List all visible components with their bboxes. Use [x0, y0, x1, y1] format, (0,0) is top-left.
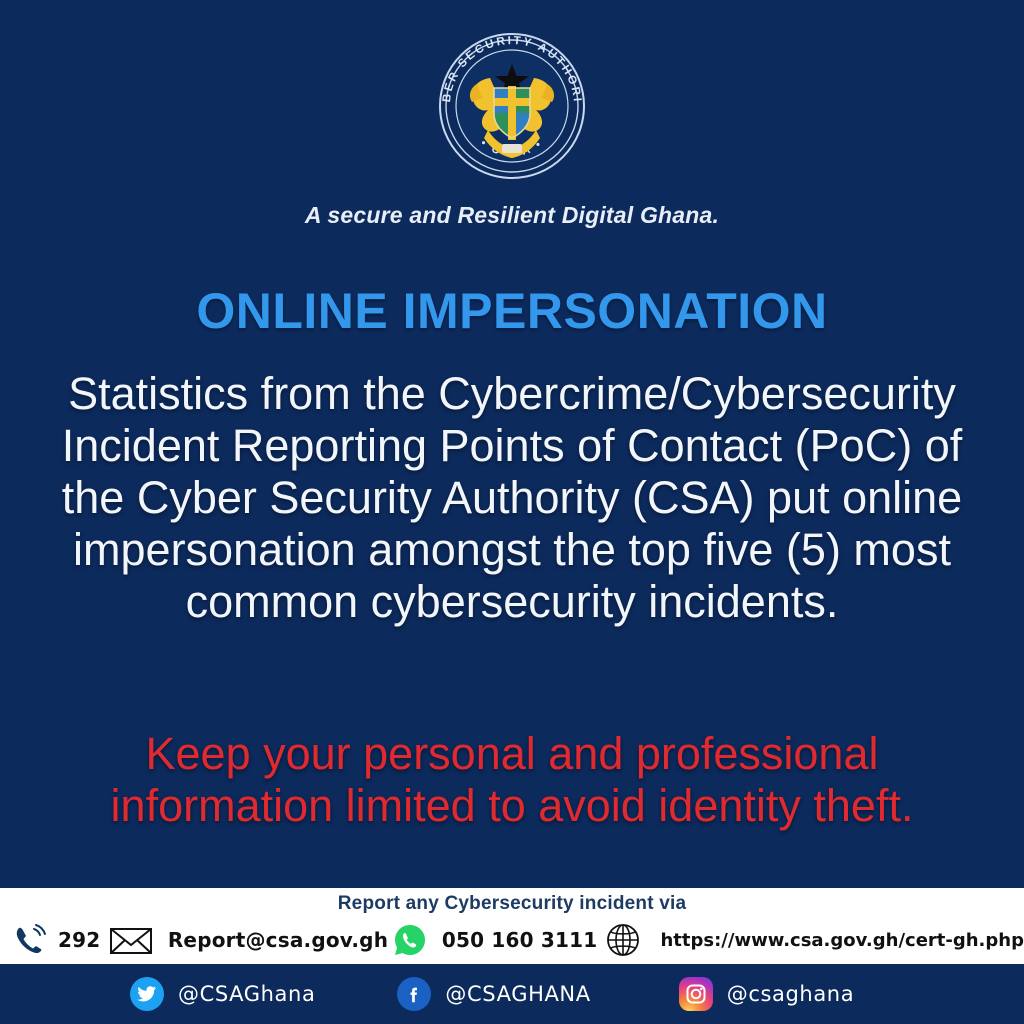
contact-website[interactable]: https://www.csa.gov.gh/cert-gh.php: [602, 919, 1024, 961]
whatsapp-number: 050 160 3111: [442, 928, 598, 952]
tagline: A secure and Resilient Digital Ghana.: [0, 202, 1024, 229]
social-instagram[interactable]: @csaghana: [679, 977, 854, 1011]
logo-container: CYBER SECURITY AUTHORITY • C S A •: [0, 26, 1024, 186]
facebook-icon: [397, 977, 431, 1011]
twitter-handle: @CSAGhana: [178, 982, 315, 1006]
social-twitter[interactable]: @CSAGhana: [130, 977, 315, 1011]
website-url: https://www.csa.gov.gh/cert-gh.php: [660, 930, 1024, 951]
poster-canvas: CYBER SECURITY AUTHORITY • C S A •: [0, 0, 1024, 1024]
body-paragraph: Statistics from the Cybercrime/Cybersecu…: [38, 368, 986, 628]
contact-row: 292 Report@csa.gov.gh: [0, 916, 1024, 964]
phone-ringing-icon: [10, 920, 50, 960]
facebook-handle: @CSAGHANA: [445, 982, 590, 1006]
csa-emblem-icon: CYBER SECURITY AUTHORITY • C S A •: [432, 26, 592, 186]
whatsapp-icon: [392, 922, 428, 958]
contact-email[interactable]: Report@csa.gov.gh: [108, 924, 388, 956]
social-bar: @CSAGhana @CSAGHANA @csaghana: [0, 964, 1024, 1024]
globe-icon: [602, 919, 644, 961]
instagram-icon: [679, 977, 713, 1011]
twitter-icon: [130, 977, 164, 1011]
footer-heading: Report any Cybersecurity incident via: [0, 893, 1024, 915]
page-title: ONLINE IMPERSONATION: [0, 283, 1024, 339]
envelope-icon: [108, 924, 154, 956]
footer-band: Report any Cybersecurity incident via 29…: [0, 888, 1024, 964]
contact-hotline[interactable]: 292: [10, 920, 100, 960]
warning-paragraph: Keep your personal and professional info…: [28, 728, 996, 832]
instagram-handle: @csaghana: [727, 982, 854, 1006]
contact-whatsapp[interactable]: 050 160 3111: [392, 922, 598, 958]
email-address: Report@csa.gov.gh: [168, 928, 388, 952]
hotline-number: 292: [58, 928, 100, 952]
social-facebook[interactable]: @CSAGHANA: [397, 977, 590, 1011]
